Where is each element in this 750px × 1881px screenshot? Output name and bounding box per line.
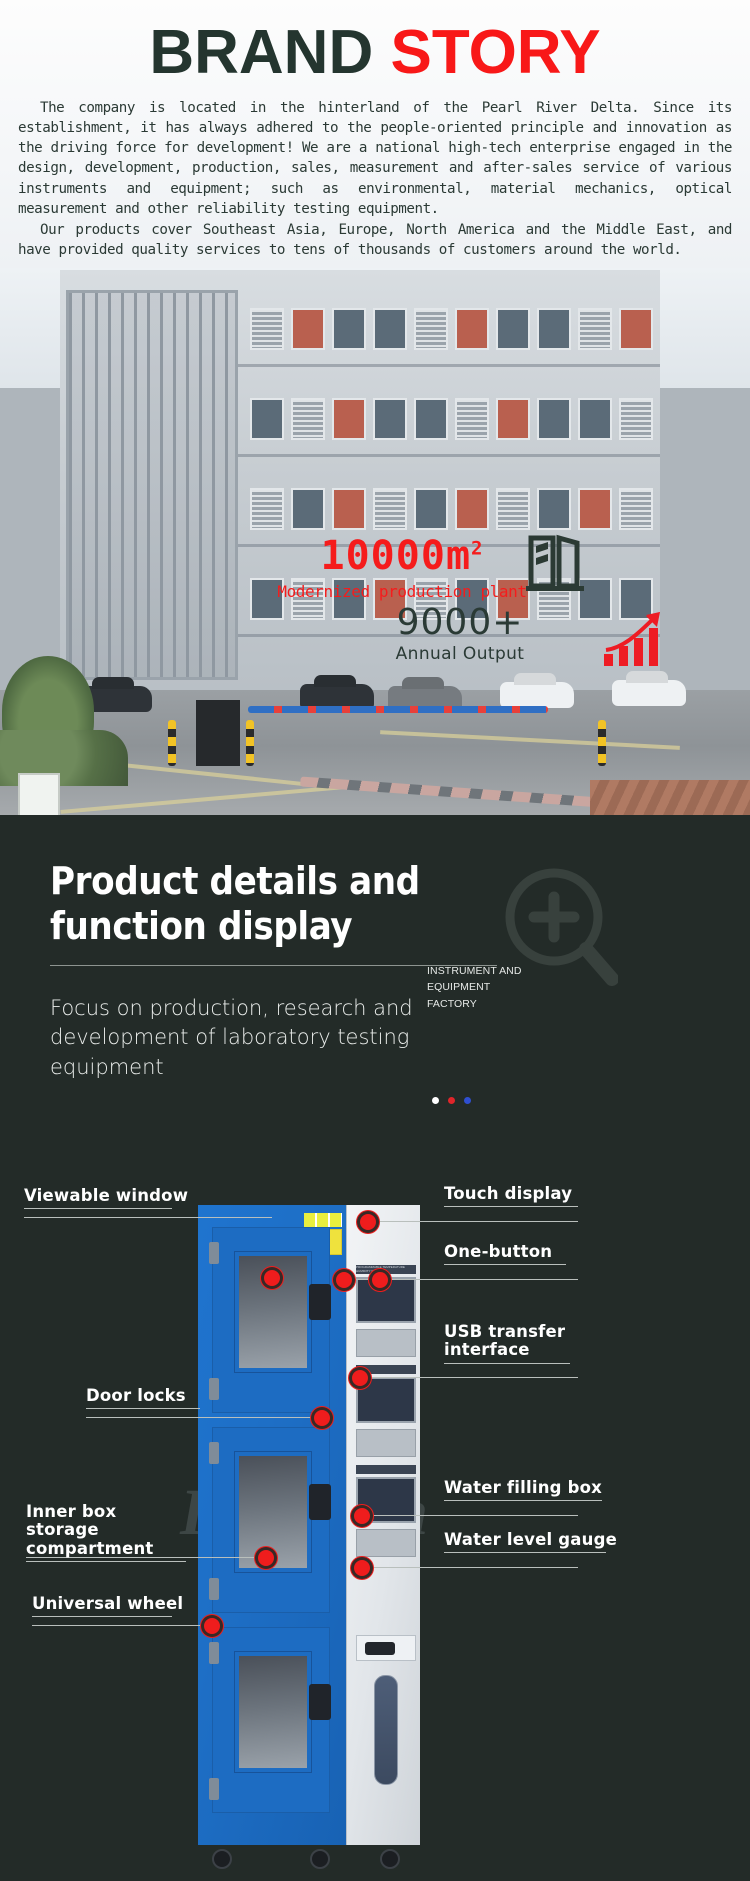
button-strip-1[interactable] [356, 1329, 416, 1357]
photo-bollard [246, 720, 254, 766]
page-title: BRAND STORY [0, 0, 750, 84]
callout-usb-transfer-interface: USB transfer interface [444, 1323, 570, 1364]
photo-gate-barrier [248, 706, 548, 713]
viewing-window [235, 1652, 311, 1772]
hotspot-touch-display[interactable] [360, 1214, 376, 1230]
chamber-door [212, 1227, 330, 1413]
hotspot-usb-transfer-interface[interactable] [352, 1370, 368, 1386]
factory-photo: 10000m2 Modernized production plant 9000… [0, 268, 750, 815]
product-details-section: Product details and function display Foc… [0, 815, 750, 1881]
callout-door-locks: Door locks [86, 1387, 200, 1409]
product-details-heading: Product details and function display [50, 859, 450, 949]
button-strip-3[interactable] [356, 1529, 416, 1557]
callout-inner-box-storage-compartment: Inner box storage compartment [26, 1503, 186, 1562]
dot-red[interactable] [448, 1097, 455, 1104]
photo-brick-path [590, 780, 750, 815]
callout-water-level-gauge: Water level gauge [444, 1531, 606, 1553]
leader-line-door-locks [86, 1417, 322, 1418]
callout-universal-wheel: Universal wheel [32, 1595, 172, 1617]
callout-water-filling-box: Water filling box [444, 1479, 602, 1501]
photo-bollard [598, 720, 606, 766]
leader-line-water-level-gauge [362, 1567, 578, 1568]
dot-blue[interactable] [464, 1097, 471, 1104]
universal-wheel-part [380, 1849, 400, 1869]
hotspot-door-locks[interactable] [314, 1410, 330, 1426]
factory-caption-line-2: EQUIPMENT [427, 979, 522, 995]
universal-wheel-part [212, 1849, 232, 1869]
photo-car [500, 682, 574, 708]
door-lock-handle [309, 1684, 331, 1720]
brand-title-word-1: BRAND [149, 18, 373, 87]
callout-one-button: One-button [444, 1243, 566, 1265]
hotspot-one-button-left[interactable] [336, 1272, 352, 1288]
brand-paragraph-1: The company is located in the hinterland… [18, 98, 732, 219]
hotspot-water-filling-box[interactable] [354, 1508, 370, 1524]
control-stack: PROGRAMMABLE TEMPERATURE HUMIDITY CHAMBE… [350, 1205, 418, 1845]
product-diagram: HongJin [0, 1145, 750, 1881]
door-lock-handle [309, 1484, 331, 1520]
photo-cage-bars [69, 293, 235, 677]
water-filling-box-part[interactable] [356, 1635, 416, 1661]
carousel-dots[interactable] [432, 1097, 471, 1104]
photo-sign-board [18, 773, 60, 815]
hotspot-viewable-window[interactable] [264, 1270, 280, 1286]
hotspot-universal-wheel[interactable] [204, 1618, 220, 1634]
button-strip-2[interactable] [356, 1429, 416, 1457]
factory-caption-line-3: FACTORY [427, 996, 522, 1012]
callout-touch-display: Touch display [444, 1185, 578, 1207]
factory-caption-line-1: INSTRUMENT AND [427, 963, 522, 979]
hotspot-water-level-gauge[interactable] [354, 1560, 370, 1576]
chamber-door [212, 1627, 330, 1813]
universal-wheel-part [310, 1849, 330, 1869]
water-level-gauge-part [374, 1675, 398, 1785]
product-details-header: Product details and function display Foc… [0, 815, 750, 1083]
photo-floor-line [238, 454, 660, 457]
panel-caption [356, 1465, 416, 1474]
photo-floor-line [238, 544, 660, 547]
photo-building-cage [66, 290, 238, 680]
brand-story-section: BRAND STORY The company is located in th… [0, 0, 750, 268]
door-lock-handle [309, 1284, 331, 1320]
hotspot-one-button-right[interactable] [372, 1272, 388, 1288]
photo-window-row [250, 308, 653, 350]
chamber-door [212, 1427, 330, 1613]
photo-car [612, 680, 686, 706]
leader-line-viewable-window [24, 1217, 272, 1218]
leader-line-universal-wheel [32, 1625, 208, 1626]
photo-bollard [168, 720, 176, 766]
brand-title-word-2: STORY [390, 18, 600, 87]
test-chamber-illustration: PROGRAMMABLE TEMPERATURE HUMIDITY CHAMBE… [198, 1205, 420, 1855]
factory-caption: INSTRUMENT AND EQUIPMENT FACTORY [427, 963, 522, 1012]
panel-caption: PROGRAMMABLE TEMPERATURE HUMIDITY CHAMBE… [356, 1265, 416, 1274]
dot-active[interactable] [432, 1097, 439, 1104]
photo-window-row [250, 398, 653, 440]
brand-story-copy: The company is located in the hinterland… [18, 98, 732, 260]
leader-line-touch-display [368, 1221, 578, 1222]
hotspot-inner-box-storage-compartment[interactable] [258, 1550, 274, 1566]
photo-floor-line [238, 634, 660, 637]
photo-guard-booth [196, 700, 240, 766]
product-details-subheading: Focus on production, research and develo… [50, 994, 450, 1083]
brand-paragraph-2: Our products cover Southeast Asia, Europ… [18, 220, 732, 260]
page-root: BRAND STORY The company is located in th… [0, 0, 750, 1881]
leader-line-usb-transfer-interface [360, 1377, 578, 1378]
leader-line-water-filling-box [362, 1515, 578, 1516]
photo-window-row [250, 578, 653, 620]
callout-viewable-window: Viewable window [24, 1187, 172, 1209]
warning-label-strip [304, 1213, 342, 1227]
photo-floor-line [238, 364, 660, 367]
photo-window-row [250, 488, 653, 530]
